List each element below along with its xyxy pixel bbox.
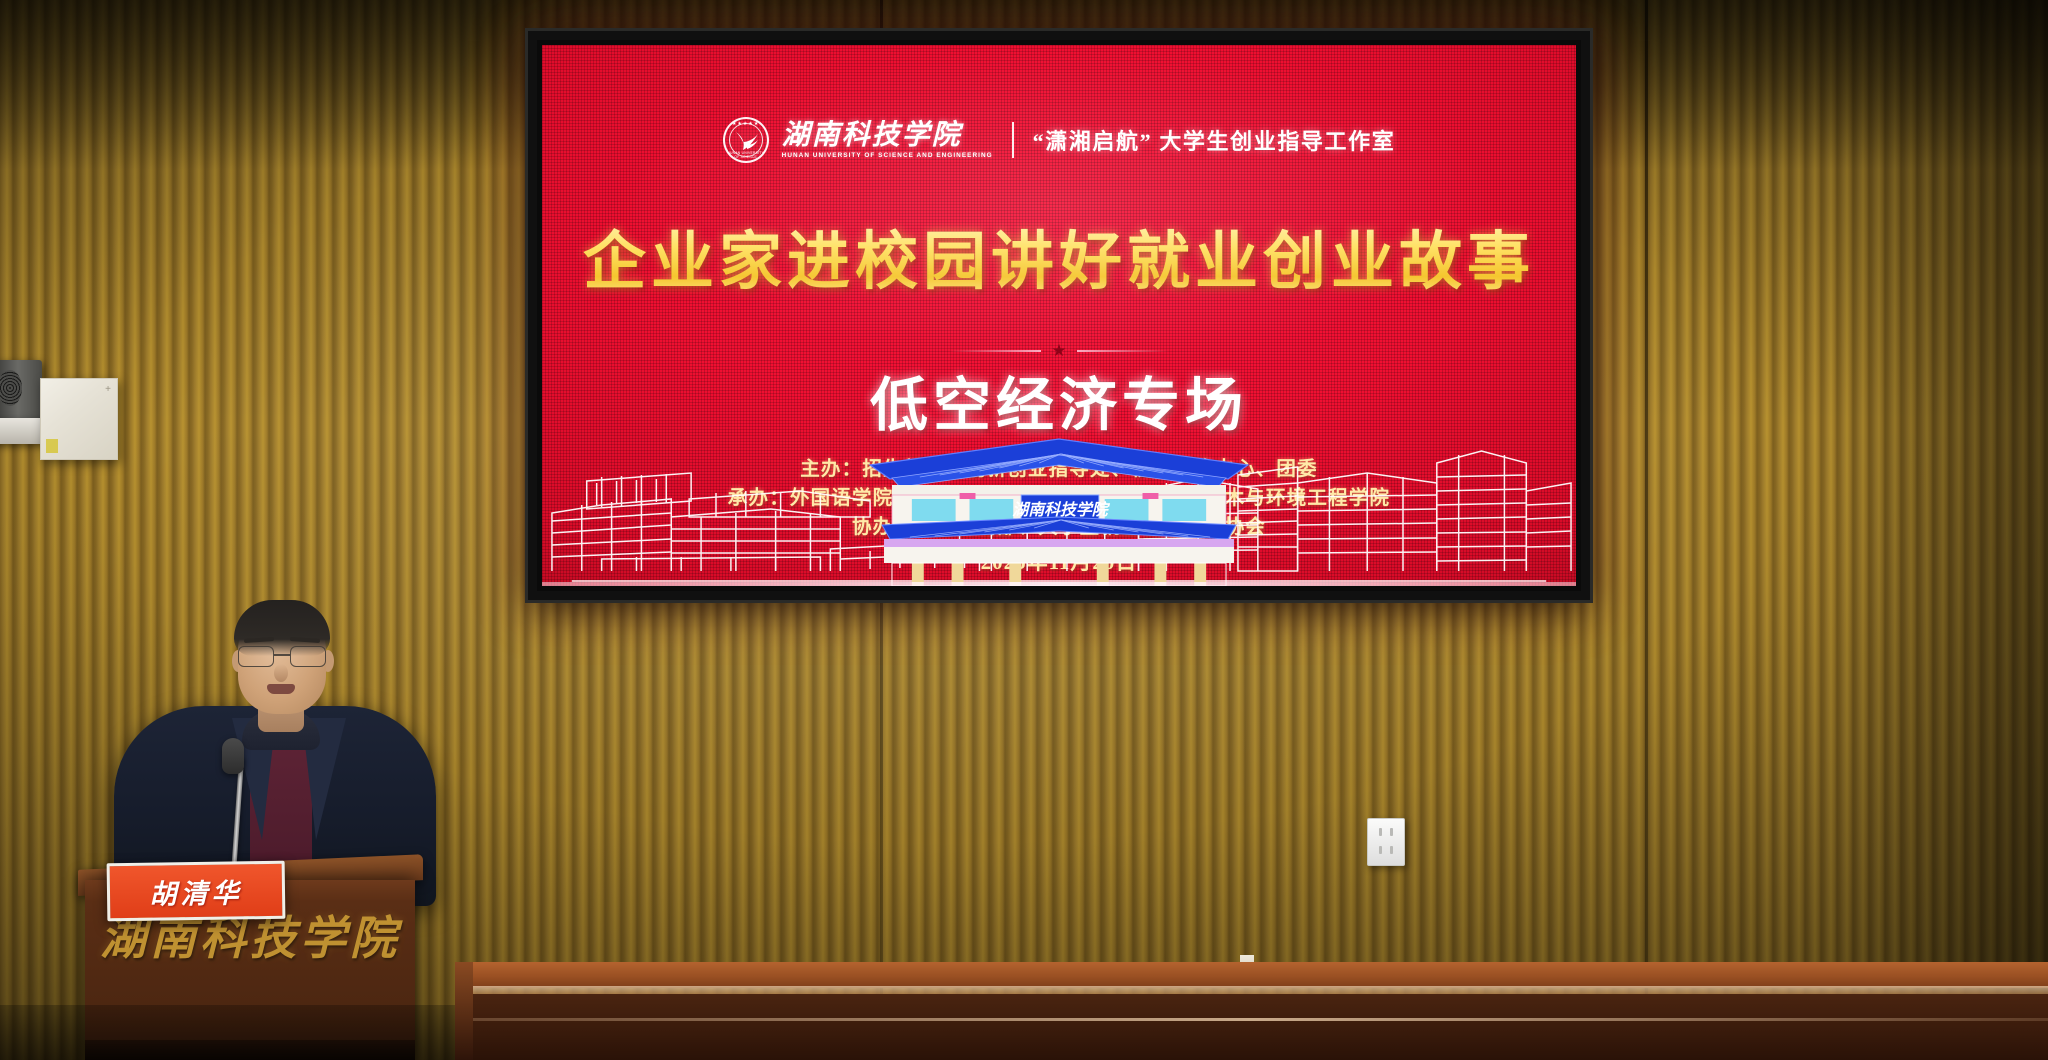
table-left-end [455,962,473,1060]
campus-skyline-graphic: 湖南科技学院 [542,421,1576,586]
skyline-svg: 湖南科技学院 [542,421,1576,586]
wall-panel: + [40,378,118,460]
logo-english-name: HUNAN UNIVERSITY OF SCIENCE AND ENGINEER… [782,152,993,159]
university-logo-icon: ★★★★★ HUNAN UNIVERSITY OF SCIENCE [723,117,769,163]
outlet-slot [1379,828,1393,837]
screenshot-stage: + ★★★★★ HUNAN UNIVERSITY OF SCIENCE 湖南科技 [0,0,2048,1060]
logo-swoosh-icon [734,130,760,152]
led-display-screen: ★★★★★ HUNAN UNIVERSITY OF SCIENCE 湖南科技学院… [528,31,1590,600]
star-icon: ★ [1051,342,1066,359]
campus-gate-graphic: 湖南科技学院 [870,439,1248,586]
logo-stars: ★★★★★ [725,122,767,127]
microphone-icon [222,738,244,774]
foreground-table [455,962,2048,1060]
gate-plaque-text: 湖南科技学院 [1012,501,1110,519]
divider-line-left [949,350,1041,352]
workshop-name: “潇湘启航” 大学生创业指导工作室 [1033,124,1396,156]
main-title: 企业家进校园讲好就业创业故事 [542,211,1576,302]
speaker-mouth [267,684,295,694]
skyline-ground-line [542,582,1576,586]
nameplate-text: 胡清华 [149,871,243,911]
logo-chinese-name: 湖南科技学院 [782,121,962,150]
star-divider: ★ [542,342,1576,359]
panel-tag [46,439,58,453]
plus-icon: + [105,385,111,395]
table-lip-highlight [455,1018,2048,1021]
speaker-nose [274,664,288,682]
speaker-nameplate: 胡清华 [107,861,286,921]
table-face [455,994,2048,1060]
foreground-shadow [0,1005,455,1060]
logo-text-block: 湖南科技学院 HUNAN UNIVERSITY OF SCIENCE AND E… [782,121,993,159]
power-outlet-icon [1367,818,1405,866]
logo-arc-text: HUNAN UNIVERSITY OF SCIENCE [725,152,767,159]
screen-header: ★★★★★ HUNAN UNIVERSITY OF SCIENCE 湖南科技学院… [542,117,1576,163]
header-divider [1012,122,1014,158]
divider-line-right [1077,350,1169,352]
outlet-slot [1379,846,1393,855]
speaker-eyebrows [244,638,320,643]
led-panel: ★★★★★ HUNAN UNIVERSITY OF SCIENCE 湖南科技学院… [542,45,1576,586]
speaker-person [150,588,400,888]
table-top [455,962,2048,988]
